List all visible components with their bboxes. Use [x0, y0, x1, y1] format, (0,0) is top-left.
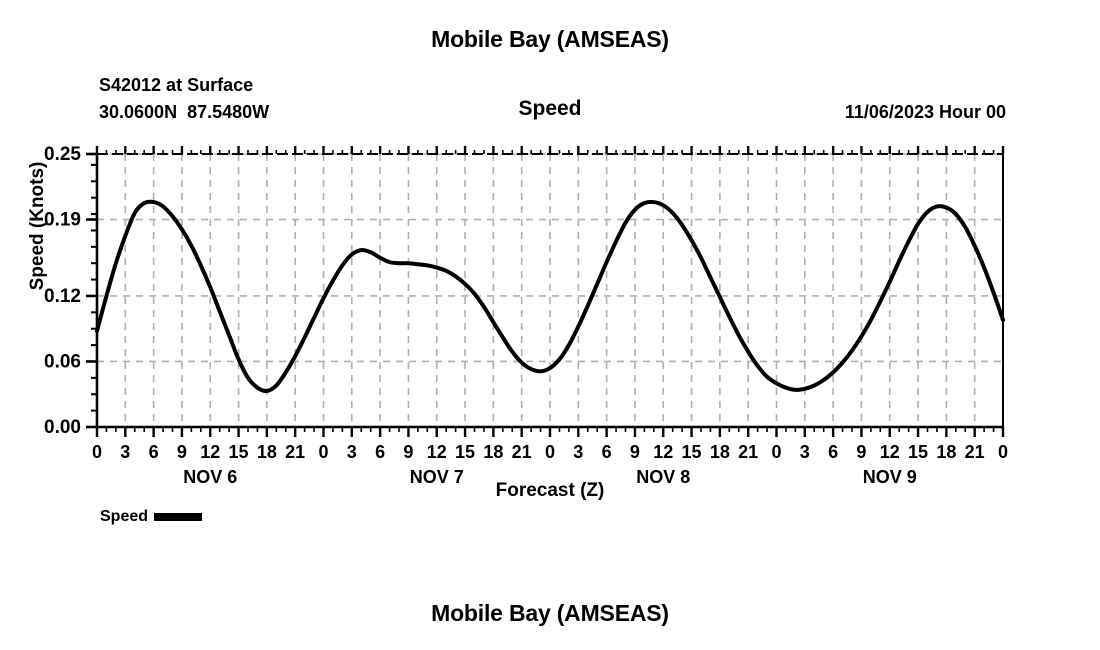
x-tick-label: 6 — [149, 442, 159, 462]
x-tick-label: 18 — [936, 442, 956, 462]
x-tick-label: 3 — [120, 442, 130, 462]
page-title-bottom: Mobile Bay (AMSEAS) — [0, 600, 1100, 627]
plot-area: 0.000.060.120.190.2503691215182103691215… — [0, 0, 1100, 480]
x-tick-label: 18 — [710, 442, 730, 462]
x-tick-label: 9 — [403, 442, 413, 462]
y-tick-label: 0.19 — [44, 210, 81, 231]
chart-legend: Speed — [100, 508, 202, 526]
x-tick-label: 0 — [92, 442, 102, 462]
legend-entry-label: Speed — [100, 508, 148, 526]
x-tick-label: 3 — [800, 442, 810, 462]
y-tick-label: 0.25 — [44, 144, 81, 165]
y-tick-label: 0.00 — [44, 417, 81, 438]
y-tick-label: 0.06 — [44, 351, 81, 372]
x-tick-label: 21 — [512, 442, 532, 462]
x-tick-label: 12 — [427, 442, 447, 462]
x-tick-label: 12 — [880, 442, 900, 462]
x-tick-label: 6 — [828, 442, 838, 462]
x-axis-label: Forecast (Z) — [0, 480, 1100, 502]
legend-line-swatch — [154, 513, 202, 521]
x-tick-label: 18 — [483, 442, 503, 462]
forecast-chart-figure: Mobile Bay (AMSEAS) S42012 at Surface 30… — [0, 0, 1100, 650]
x-tick-label: 0 — [318, 442, 328, 462]
x-tick-label: 21 — [738, 442, 758, 462]
x-tick-label: 3 — [347, 442, 357, 462]
x-tick-label: 6 — [602, 442, 612, 462]
x-tick-label: 0 — [545, 442, 555, 462]
x-tick-label: 15 — [908, 442, 928, 462]
y-tick-label: 0.12 — [44, 286, 81, 307]
x-tick-label: 21 — [285, 442, 305, 462]
x-tick-label: 9 — [856, 442, 866, 462]
x-tick-label: 9 — [630, 442, 640, 462]
x-tick-label: 15 — [455, 442, 475, 462]
x-tick-label: 6 — [375, 442, 385, 462]
x-tick-label: 21 — [965, 442, 985, 462]
x-tick-label: 15 — [229, 442, 249, 462]
x-tick-label: 12 — [200, 442, 220, 462]
x-tick-label: 15 — [682, 442, 702, 462]
x-tick-label: 18 — [257, 442, 277, 462]
x-tick-label: 9 — [177, 442, 187, 462]
x-tick-label: 3 — [573, 442, 583, 462]
x-tick-label: 12 — [653, 442, 673, 462]
x-tick-label: 0 — [998, 442, 1008, 462]
x-tick-label: 0 — [771, 442, 781, 462]
